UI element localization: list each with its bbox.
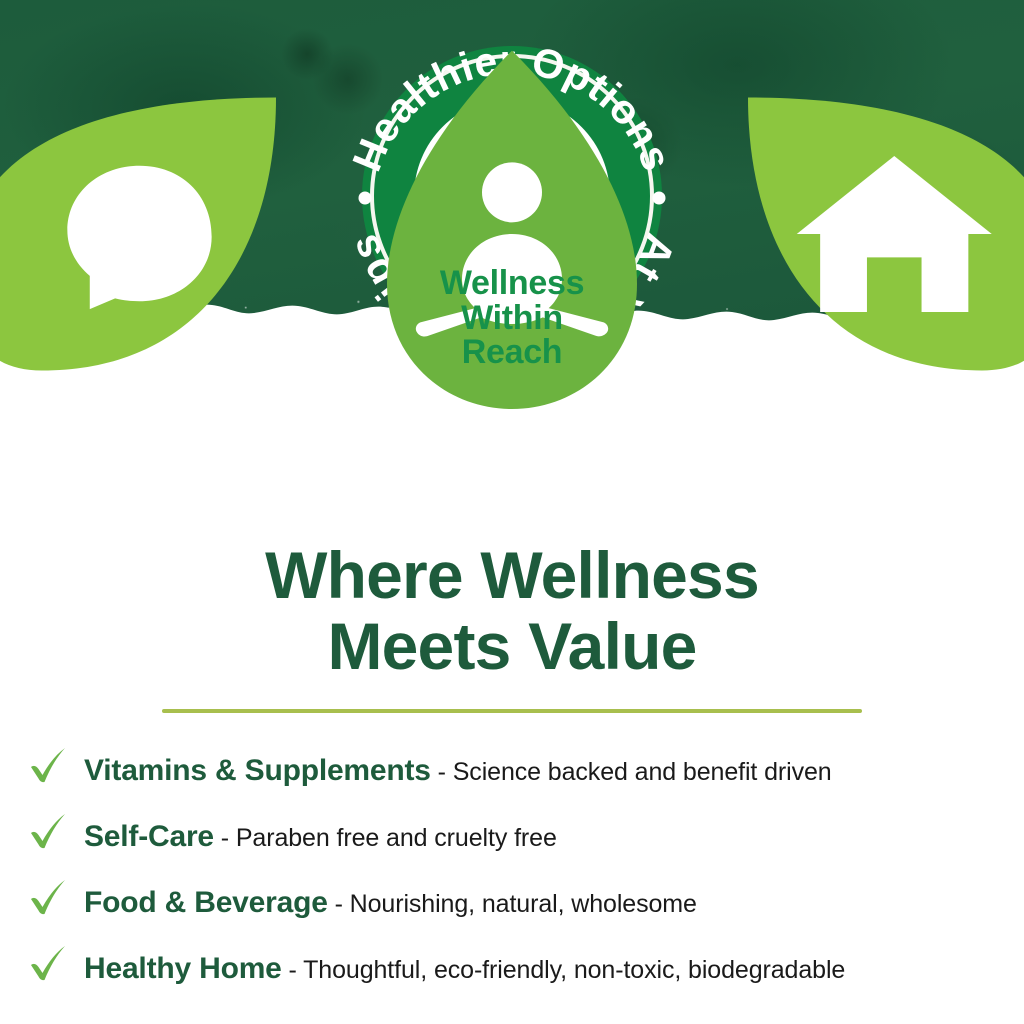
list-item-text: Food & Beverage - Nourishing, natural, w… [84, 886, 697, 920]
list-item: Healthy Home - Thoughtful, eco-friendly,… [26, 934, 1012, 1000]
page-title-line-2: Meets Value [0, 611, 1024, 682]
wellness-badge: Healthier Options At Your Fingertips [317, 58, 707, 458]
check-icon [26, 942, 70, 986]
list-item-desc: - Nourishing, natural, wholesome [328, 890, 697, 918]
list-item-text: Healthy Home - Thoughtful, eco-friendly,… [84, 952, 845, 986]
house-leaf-icon [709, 34, 1024, 434]
list-item-title: Self-Care [84, 820, 214, 853]
check-icon [26, 876, 70, 920]
list-item: Self-Care - Paraben free and cruelty fre… [26, 802, 1012, 868]
list-item-desc: - Science backed and benefit driven [431, 758, 832, 786]
badge-center-content: Wellness Within Reach [397, 210, 627, 370]
title-divider [162, 709, 862, 713]
list-item: Vitamins & Supplements - Science backed … [26, 736, 1012, 802]
page-title: Where Wellness Meets Value [0, 540, 1024, 683]
list-item: Food & Beverage - Nourishing, natural, w… [26, 868, 1012, 934]
page-title-line-1: Where Wellness [265, 538, 759, 612]
list-item-title: Food & Beverage [84, 886, 328, 919]
list-item-title: Vitamins & Supplements [84, 754, 431, 787]
head-profile-leaf-icon [0, 34, 315, 434]
list-item-desc: - Thoughtful, eco-friendly, non-toxic, b… [282, 956, 846, 984]
list-item-text: Self-Care - Paraben free and cruelty fre… [84, 820, 557, 854]
list-item-text: Vitamins & Supplements - Science backed … [84, 754, 832, 788]
badge-leaf-icon-group [397, 210, 627, 258]
check-icon [26, 744, 70, 788]
list-item-desc: - Paraben free and cruelty free [214, 824, 557, 852]
benefits-list: Vitamins & Supplements - Science backed … [26, 736, 1012, 1000]
check-icon [26, 810, 70, 854]
meditation-figure-leaf-icon [317, 34, 707, 434]
list-item-title: Healthy Home [84, 952, 282, 985]
